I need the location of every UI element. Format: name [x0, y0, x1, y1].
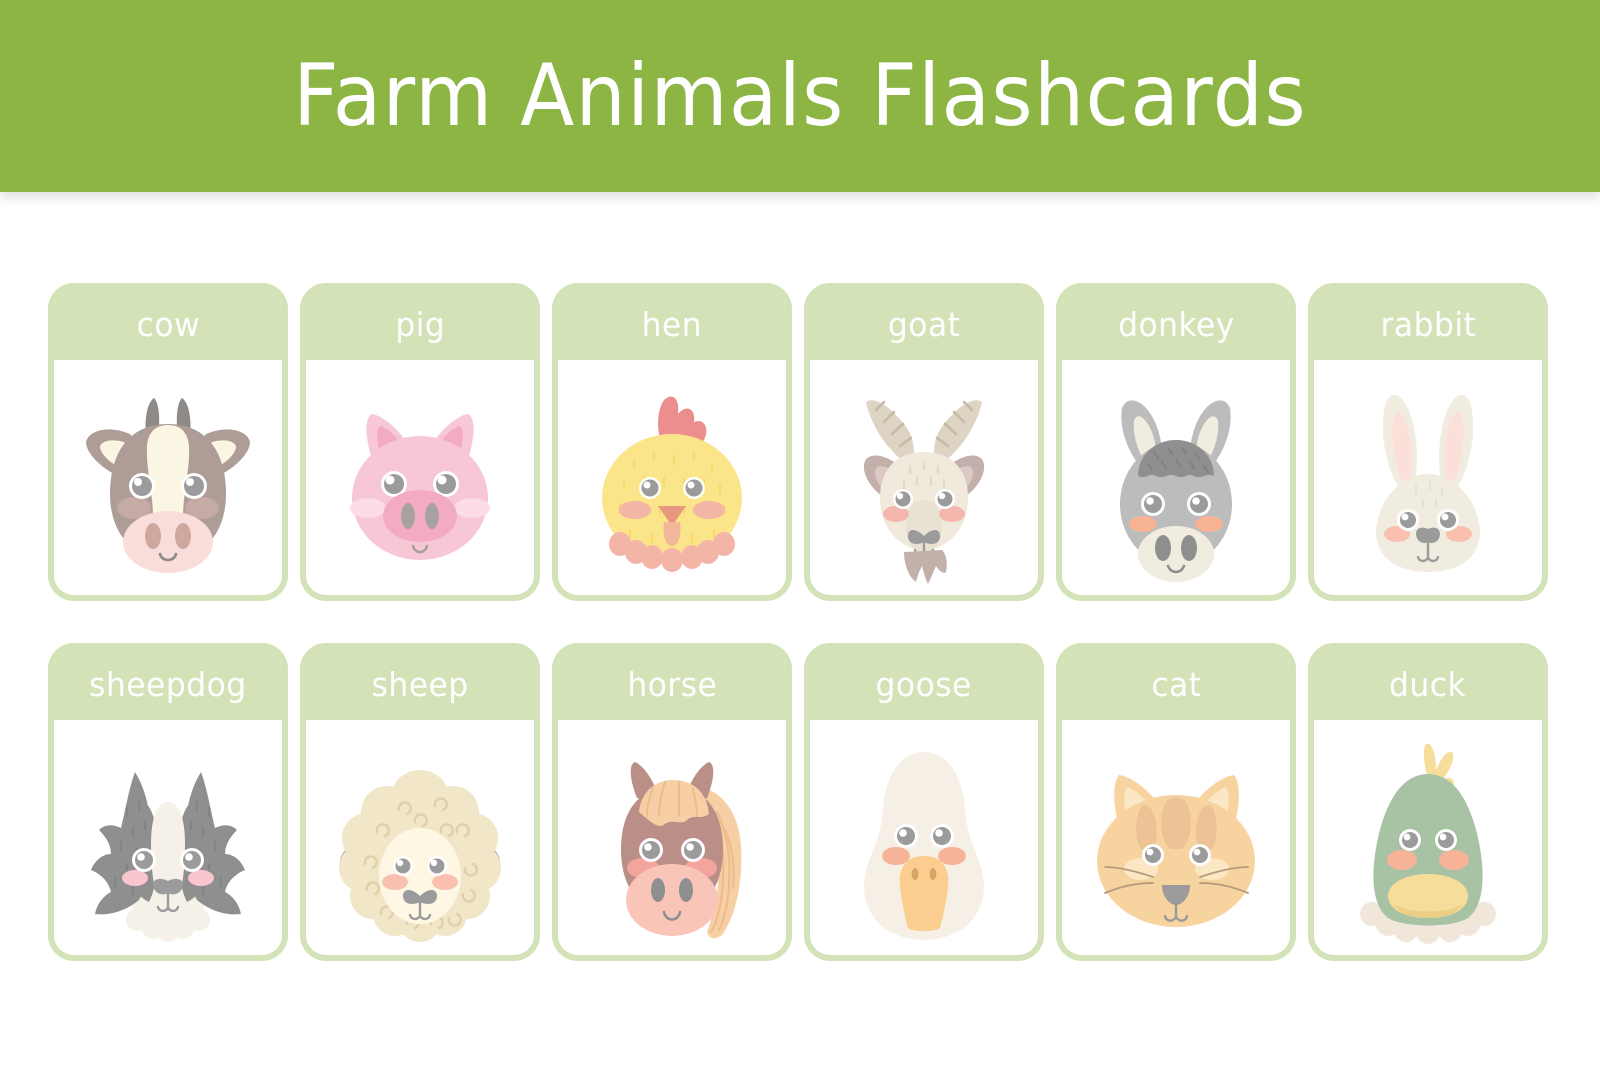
- flashcard-pig[interactable]: pig: [300, 283, 540, 601]
- flashcard-sheep[interactable]: sheep: [300, 643, 540, 961]
- card-header-pig: pig: [305, 288, 535, 360]
- card-body-sheepdog: [54, 721, 282, 961]
- card-label-donkey: donkey: [1118, 308, 1235, 341]
- card-header-sheep: sheep: [305, 648, 535, 720]
- card-header-rabbit: rabbit: [1313, 288, 1543, 360]
- card-header-cat: cat: [1061, 648, 1291, 720]
- flashcard-cat[interactable]: cat: [1056, 643, 1296, 961]
- horse-face-icon: [567, 734, 777, 949]
- sheep-face-icon: [315, 736, 525, 946]
- page-banner: Farm Animals Flashcards: [0, 0, 1600, 192]
- duck-face-icon: [1328, 734, 1528, 949]
- card-body-cow: [54, 361, 282, 601]
- card-header-sheepdog: sheepdog: [53, 648, 283, 720]
- card-label-sheepdog: sheepdog: [89, 668, 246, 701]
- flashcard-horse[interactable]: horse: [552, 643, 792, 961]
- flashcard-sheepdog[interactable]: sheepdog: [48, 643, 288, 961]
- card-label-cow: cow: [136, 308, 199, 341]
- flashcard-grid: cow: [48, 283, 1552, 961]
- hen-face-icon: [572, 376, 772, 586]
- card-label-goat: goat: [888, 308, 960, 341]
- card-header-hen: hen: [557, 288, 787, 360]
- card-label-rabbit: rabbit: [1380, 308, 1476, 341]
- flashcard-rabbit[interactable]: rabbit: [1308, 283, 1548, 601]
- goose-face-icon: [824, 734, 1024, 949]
- card-label-cat: cat: [1151, 668, 1201, 701]
- cow-face-icon: [68, 376, 268, 586]
- card-body-goat: [810, 361, 1038, 601]
- card-label-hen: hen: [642, 308, 702, 341]
- card-body-cat: [1062, 721, 1290, 961]
- card-label-goose: goose: [876, 668, 972, 701]
- card-body-rabbit: [1314, 361, 1542, 601]
- card-label-duck: duck: [1389, 668, 1466, 701]
- goat-face-icon: [824, 376, 1024, 586]
- card-header-goat: goat: [809, 288, 1039, 360]
- flashcard-donkey[interactable]: donkey: [1056, 283, 1296, 601]
- card-header-goose: goose: [809, 648, 1039, 720]
- flashcard-goose[interactable]: goose: [804, 643, 1044, 961]
- card-header-cow: cow: [53, 288, 283, 360]
- card-body-pig: [306, 361, 534, 601]
- card-header-duck: duck: [1313, 648, 1543, 720]
- card-body-donkey: [1062, 361, 1290, 601]
- card-header-donkey: donkey: [1061, 288, 1291, 360]
- pig-face-icon: [320, 376, 520, 586]
- rabbit-face-icon: [1328, 376, 1528, 586]
- card-body-hen: [558, 361, 786, 601]
- flashcard-goat[interactable]: goat: [804, 283, 1044, 601]
- flashcard-duck[interactable]: duck: [1308, 643, 1548, 961]
- cat-face-icon: [1069, 741, 1284, 941]
- flashcard-cow[interactable]: cow: [48, 283, 288, 601]
- card-body-duck: [1314, 721, 1542, 961]
- donkey-face-icon: [1076, 376, 1276, 586]
- page-title: Farm Animals Flashcards: [293, 53, 1307, 139]
- card-header-horse: horse: [557, 648, 787, 720]
- card-body-sheep: [306, 721, 534, 961]
- card-body-goose: [810, 721, 1038, 961]
- card-label-horse: horse: [627, 668, 717, 701]
- card-body-horse: [558, 721, 786, 961]
- flashcard-hen[interactable]: hen: [552, 283, 792, 601]
- card-label-pig: pig: [395, 308, 445, 341]
- card-label-sheep: sheep: [371, 668, 468, 701]
- flashcards-page: Farm Animals Flashcards cow: [0, 0, 1600, 1067]
- sheepdog-face-icon: [63, 736, 273, 946]
